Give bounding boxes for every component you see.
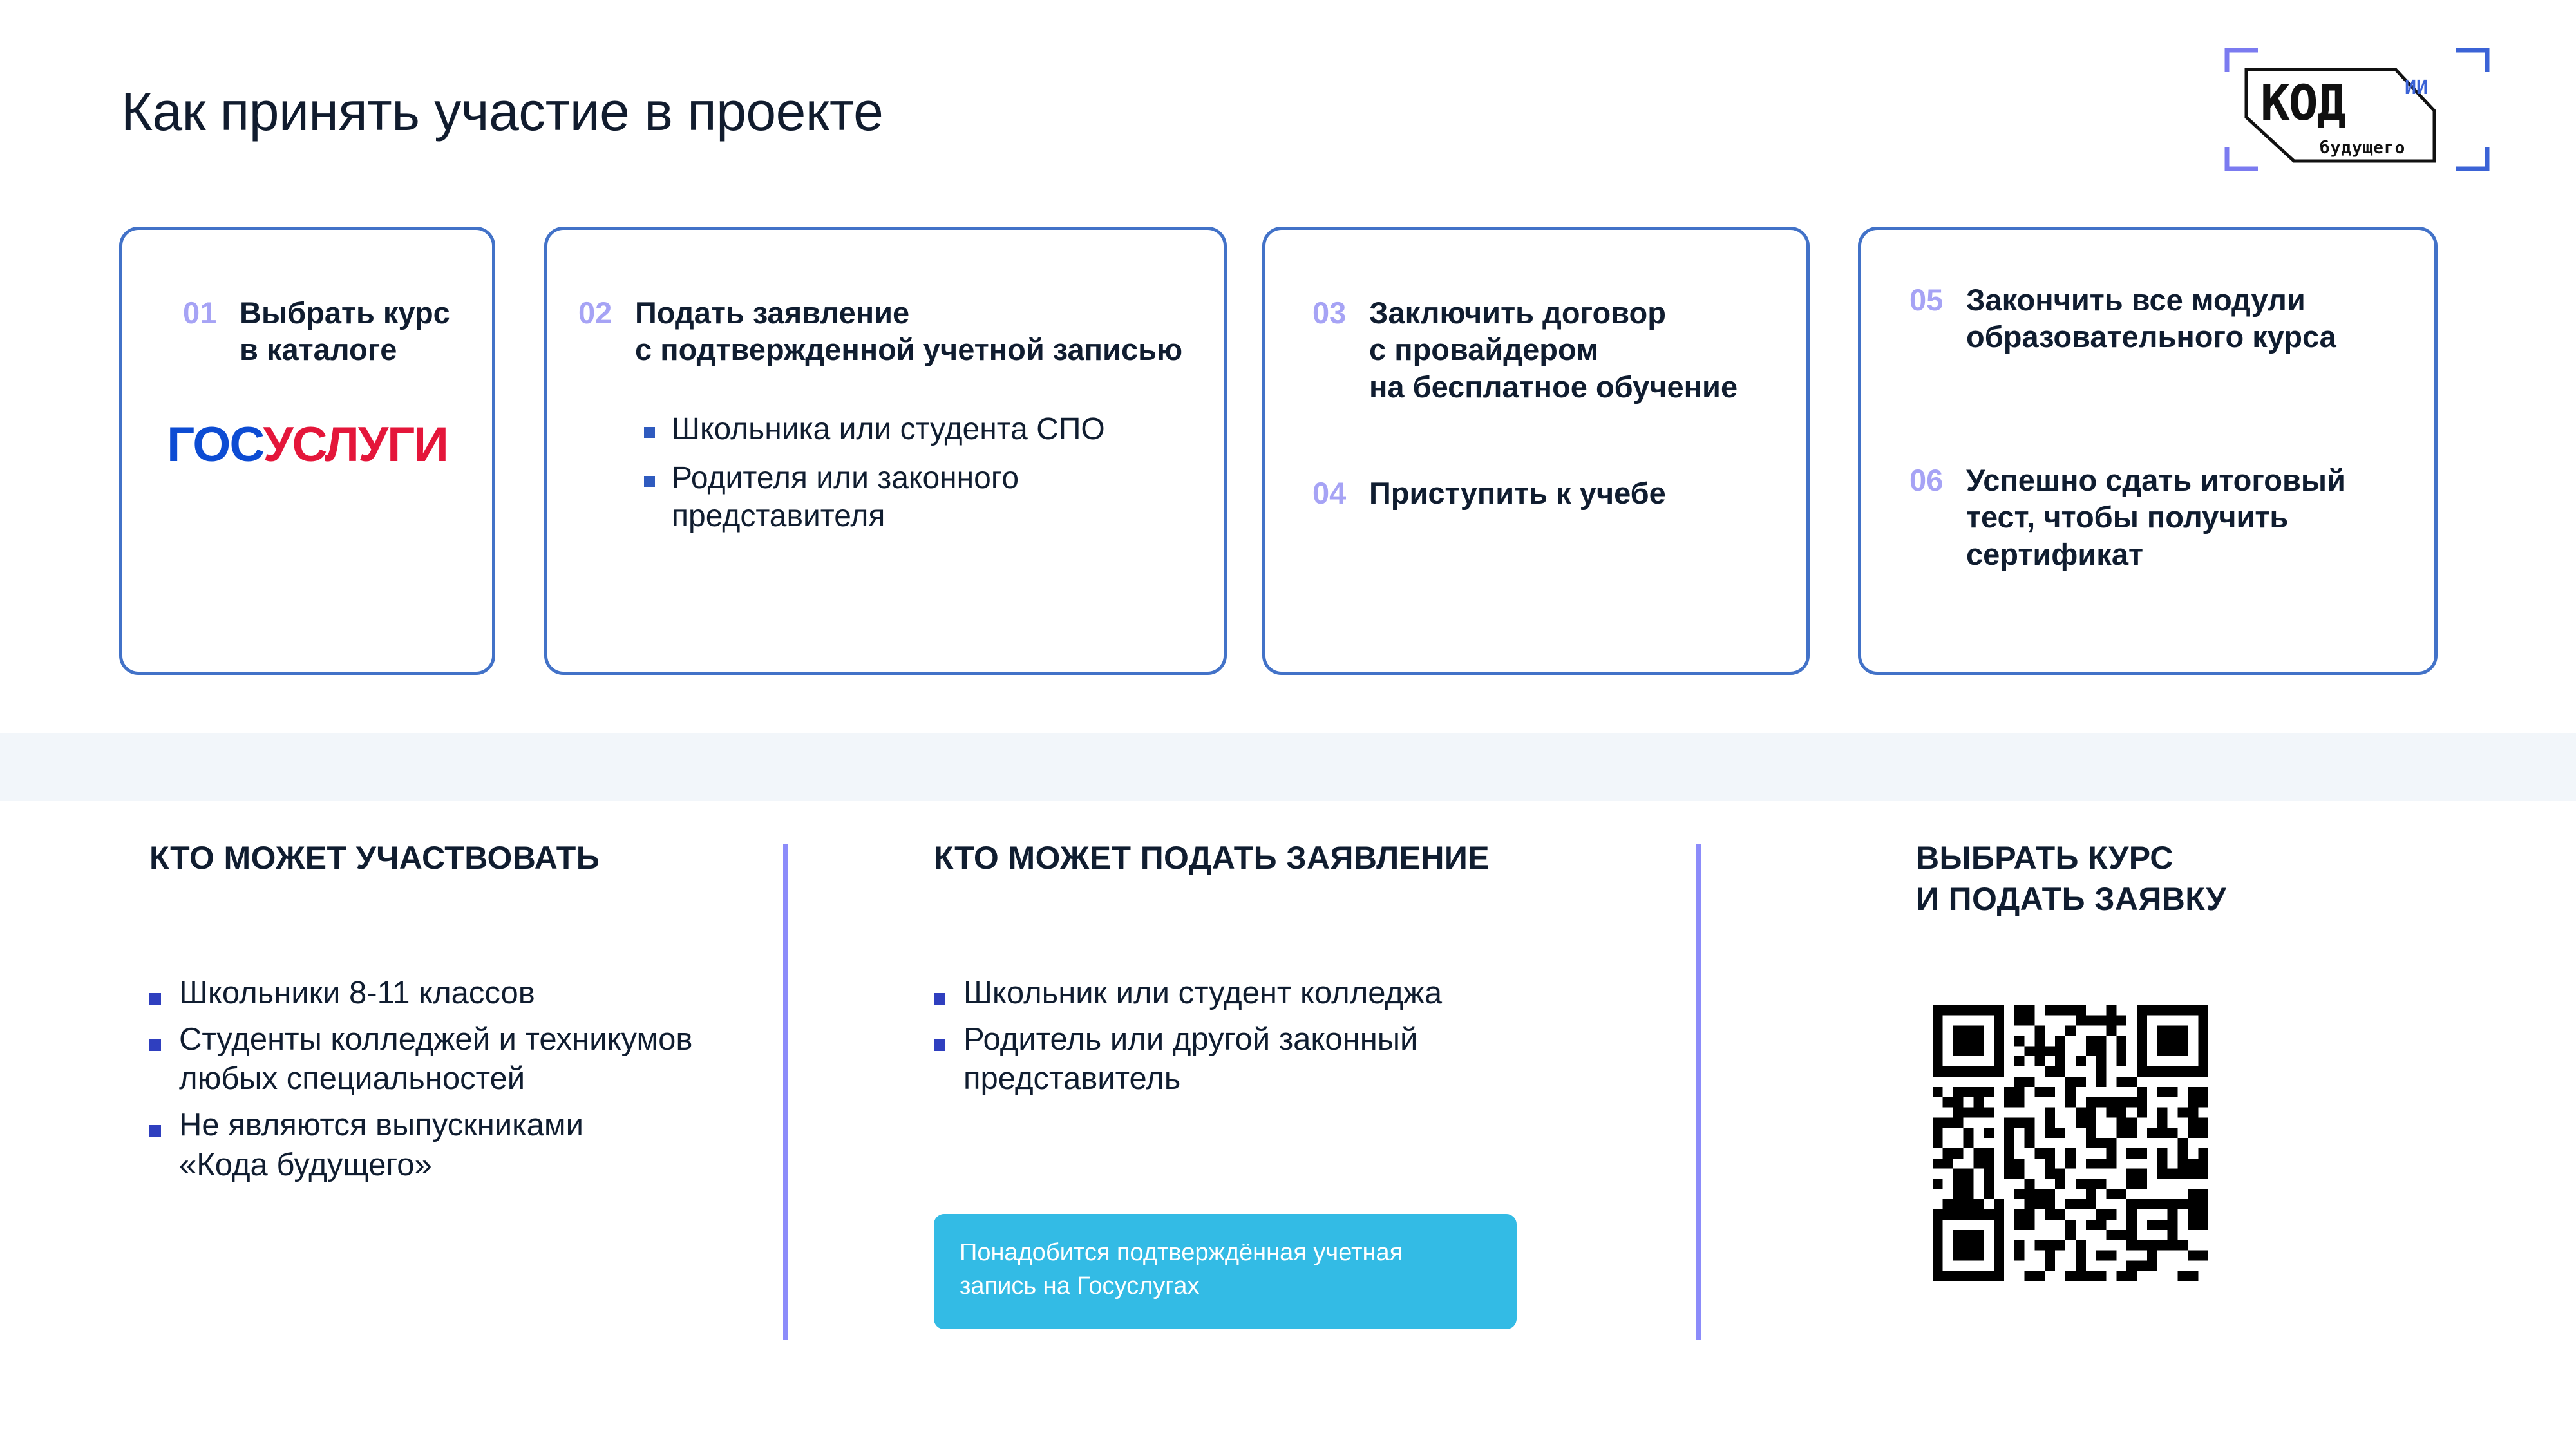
- step-card-3[interactable]: 03 Заключить договор с провайдером на бе…: [1262, 227, 1810, 675]
- section-divider-band: [0, 733, 2576, 801]
- step-text: Закончить все модули образовательного ку…: [1966, 281, 2336, 355]
- step-item-01: 01 Выбрать курс в каталоге: [183, 294, 450, 368]
- step-item-02: 02 Подать заявление с подтвержденной уче…: [578, 294, 1182, 368]
- slide-root: Как принять участие в проекте КОД ИИ буд…: [0, 0, 2576, 1449]
- column-who-can-participate: КТО МОЖЕТ УЧАСТВОВАТЬ Школьники 8-11 кла…: [149, 837, 768, 1192]
- gosuslugi-red-part: УСЛУГИ: [263, 417, 448, 472]
- steps-card-row: 01 Выбрать курс в каталоге ГОСУСЛУГИ 02 …: [0, 227, 2576, 677]
- column-heading: КТО МОЖЕТ УЧАСТВОВАТЬ: [149, 837, 768, 878]
- square-bullet-icon: [149, 1125, 161, 1137]
- list-item-label: Школьники 8-11 классов: [179, 974, 535, 1014]
- list-item: Родитель или другой законный представите…: [934, 1020, 1655, 1099]
- column-separator-1: [783, 844, 788, 1340]
- step-text: Выбрать курс в каталоге: [240, 294, 450, 368]
- step-text: Подать заявление с подтвержденной учетно…: [635, 294, 1182, 368]
- step-card-2[interactable]: 02 Подать заявление с подтвержденной уче…: [544, 227, 1227, 675]
- brand-logo: КОД ИИ будущего: [2222, 39, 2492, 180]
- list-item-label: Родитель или другой законный представите…: [963, 1020, 1417, 1099]
- step-card-4[interactable]: 05 Закончить все модули образовательного…: [1858, 227, 2438, 675]
- list-item: Школьника или студента СПО: [644, 410, 1105, 449]
- list-item: Школьник или студент колледжа: [934, 974, 1655, 1014]
- step-text: Успешно сдать итоговый тест, чтобы получ…: [1966, 462, 2345, 573]
- step-item-04: 04 Приступить к учебе: [1312, 475, 1666, 511]
- step-card-1[interactable]: 01 Выбрать курс в каталоге ГОСУСЛУГИ: [119, 227, 495, 675]
- list-item: Студенты колледжей и техникумов любых сп…: [149, 1020, 768, 1099]
- square-bullet-icon: [644, 476, 655, 487]
- column-separator-2: [1696, 844, 1701, 1340]
- square-bullet-icon: [149, 993, 161, 1005]
- logo-main-text: КОД: [2260, 74, 2346, 131]
- list-item: Не являются выпускниками «Кода будущего»: [149, 1106, 768, 1185]
- column-list: Школьники 8-11 классов Студенты колледже…: [149, 974, 768, 1186]
- column-who-can-apply: КТО МОЖЕТ ПОДАТЬ ЗАЯВЛЕНИЕ Школьник или …: [934, 837, 1655, 1106]
- gosuslugi-blue-part: ГОС: [167, 417, 263, 472]
- list-item-label: Студенты колледжей и техникумов любых сп…: [179, 1020, 692, 1099]
- list-item: Школьники 8-11 классов: [149, 974, 768, 1014]
- list-item-label: Школьник или студент колледжа: [963, 974, 1442, 1014]
- step-number: 02: [578, 294, 635, 331]
- square-bullet-icon: [644, 427, 655, 438]
- step-item-05: 05 Закончить все модули образовательного…: [1909, 281, 2336, 355]
- step-number: 06: [1909, 462, 1966, 498]
- gosuslugi-logo: ГОСУСЛУГИ: [122, 417, 492, 473]
- step-item-03: 03 Заключить договор с провайдером на бе…: [1312, 294, 1738, 405]
- step-sublist: Школьника или студента СПО Родителя или …: [644, 410, 1105, 546]
- page-title: Как принять участие в проекте: [121, 80, 883, 143]
- column-choose-course: ВЫБРАТЬ КУРС И ПОДАТЬ ЗАЯВКУ: [1916, 837, 2495, 920]
- column-heading: КТО МОЖЕТ ПОДАТЬ ЗАЯВЛЕНИЕ: [934, 837, 1655, 878]
- square-bullet-icon: [934, 993, 945, 1005]
- list-item-label: Не являются выпускниками «Кода будущего»: [179, 1106, 583, 1185]
- square-bullet-icon: [149, 1039, 161, 1051]
- column-heading: ВЫБРАТЬ КУРС И ПОДАТЬ ЗАЯВКУ: [1916, 837, 2495, 920]
- info-callout-text: Понадобится подтверждённая учетная запис…: [960, 1236, 1491, 1303]
- logo-accent-text: ИИ: [2405, 77, 2428, 99]
- step-item-06: 06 Успешно сдать итоговый тест, чтобы по…: [1909, 462, 2345, 573]
- info-callout[interactable]: Понадобится подтверждённая учетная запис…: [934, 1214, 1517, 1329]
- step-number: 01: [183, 294, 240, 331]
- list-item: Родителя или законного представителя: [644, 459, 1105, 536]
- column-list: Школьник или студент колледжа Родитель и…: [934, 974, 1655, 1099]
- step-number: 05: [1909, 281, 1966, 318]
- square-bullet-icon: [934, 1039, 945, 1051]
- step-number: 03: [1312, 294, 1369, 331]
- step-number: 04: [1312, 475, 1369, 511]
- step-text: Заключить договор с провайдером на беспл…: [1369, 294, 1738, 405]
- list-item-label: Школьника или студента СПО: [672, 410, 1105, 449]
- qr-code[interactable]: [1922, 995, 2219, 1291]
- step-text: Приступить к учебе: [1369, 475, 1666, 511]
- logo-sub-text: будущего: [2320, 138, 2405, 158]
- list-item-label: Родителя или законного представителя: [672, 459, 1019, 536]
